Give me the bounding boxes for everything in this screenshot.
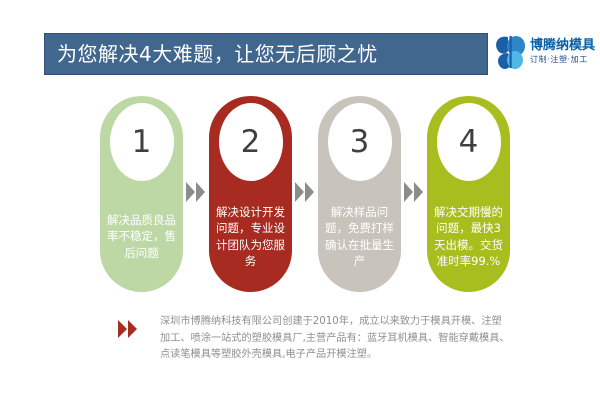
step-body-1: 解决品质良品率不稳定，售后问题 [100, 181, 183, 292]
logo-text: 博腾纳模具 订制·注塑·加工 [530, 39, 595, 65]
step-number-circle-2: 2 [219, 103, 283, 181]
step-number-circle-1: 1 [110, 103, 174, 181]
step-number-2: 2 [241, 127, 261, 158]
brand-logo: 博腾纳模具 订制·注塑·加工 [494, 28, 598, 76]
chevron-right-icon [305, 182, 314, 202]
step-number-4: 4 [459, 127, 479, 158]
step-pill-1[interactable]: 1 解决品质良品率不稳定，售后问题 [100, 96, 183, 292]
chevron-right-icon [295, 182, 304, 202]
steps-row: 1 解决品质良品率不稳定，售后问题 2 解决设计开发问题，专业设计团队为您服务 … [0, 96, 600, 296]
company-intro-block: 深圳市博腾纳科技有限公司创建于2010年，成立以来致力于模具开模、注塑 加工、喷… [0, 310, 600, 390]
butterfly-logo-icon [494, 33, 528, 71]
company-intro-line: 点读笔模具等塑胶外壳模具,电子产品开模注塑。 [160, 347, 500, 364]
step-arrow-3 [404, 182, 426, 202]
step-description-1: 解决品质良品率不稳定，售后问题 [106, 212, 177, 261]
step-number-circle-4: 4 [437, 103, 501, 181]
step-body-3: 解决样品问题，免费打样确认在批量生产 [318, 181, 401, 292]
step-number-1: 1 [132, 127, 152, 158]
chevron-right-icon [196, 182, 205, 202]
logo-subtitle: 订制·注塑·加工 [530, 55, 595, 65]
footer-arrow [118, 320, 137, 338]
step-pill-2[interactable]: 2 解决设计开发问题，专业设计团队为您服务 [209, 96, 292, 292]
step-pill-4[interactable]: 4 解决交期慢的问题，最快3天出模。交货准时率99.% [427, 96, 510, 292]
chevron-right-icon [186, 182, 195, 202]
step-number-3: 3 [350, 127, 370, 158]
step-number-circle-3: 3 [328, 103, 392, 181]
logo-company-name: 博腾纳模具 [530, 39, 595, 54]
step-description-4: 解决交期慢的问题，最快3天出模。交货准时率99.% [433, 204, 504, 269]
company-intro-line: 深圳市博腾纳科技有限公司创建于2010年，成立以来致力于模具开模、注塑 [160, 314, 500, 331]
step-description-2: 解决设计开发问题，专业设计团队为您服务 [215, 204, 286, 269]
page-header: 为您解决4大难题，让您无后顾之忧 博腾纳模具 订制·注塑·加工 [0, 0, 600, 90]
step-pill-3[interactable]: 3 解决样品问题，免费打样确认在批量生产 [318, 96, 401, 292]
step-arrow-2 [295, 182, 317, 202]
chevron-right-icon [128, 320, 137, 338]
step-description-3: 解决样品问题，免费打样确认在批量生产 [324, 204, 395, 269]
chevron-right-icon [118, 320, 127, 338]
chevron-right-icon [404, 182, 413, 202]
page-title: 为您解决4大难题，让您无后顾之忧 [45, 44, 378, 64]
company-intro-line: 加工、喷涂一站式的塑胶模具厂,主营产品有：蓝牙耳机模具、智能穿戴模具、 [160, 331, 500, 348]
chevron-right-icon [414, 182, 423, 202]
step-body-2: 解决设计开发问题，专业设计团队为您服务 [209, 181, 292, 292]
title-bar: 为您解决4大难题，让您无后顾之忧 [44, 33, 488, 75]
step-arrow-1 [186, 182, 208, 202]
step-body-4: 解决交期慢的问题，最快3天出模。交货准时率99.% [427, 181, 510, 292]
company-intro-text: 深圳市博腾纳科技有限公司创建于2010年，成立以来致力于模具开模、注塑 加工、喷… [160, 314, 500, 364]
